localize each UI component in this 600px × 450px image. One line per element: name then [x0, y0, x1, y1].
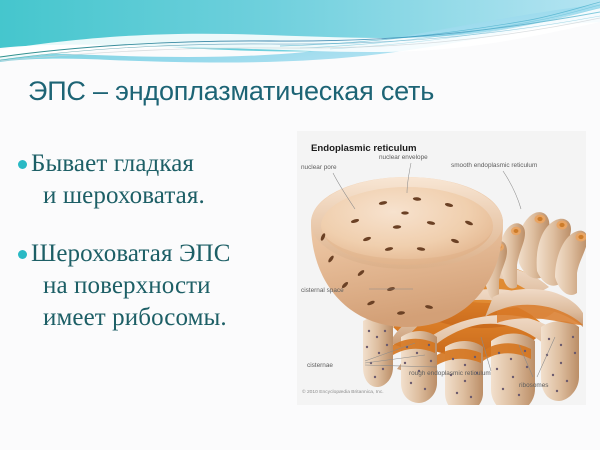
label-smooth-er: smooth endoplasmic reticulum — [451, 162, 537, 169]
label-cisternae: cisternae — [307, 362, 333, 369]
bullet-line: Бывает гладкая — [31, 148, 205, 180]
label-nuclear-envelope: nuclear envelope — [379, 154, 428, 161]
bullet-text: Шероховатая ЭПС на поверхности имеет риб… — [31, 238, 230, 334]
bullet-text: Бывает гладкая и шероховатая. — [31, 148, 205, 212]
slide: ЭПС – эндоплазматическая сеть Бывает гла… — [0, 0, 600, 450]
page-title: ЭПС – эндоплазматическая сеть — [28, 76, 548, 107]
bullet-line: на поверхности — [31, 270, 230, 302]
bullet-line: имеет рибосомы. — [31, 302, 230, 334]
header-wave-decoration — [0, 0, 600, 72]
bullet-list: Бывает гладкая и шероховатая. Шероховата… — [18, 148, 296, 360]
label-cisternal-space: cisternal space — [301, 287, 344, 294]
list-item: Бывает гладкая и шероховатая. — [18, 148, 296, 212]
figure-title: Endoplasmic reticulum — [311, 143, 417, 154]
bullet-dot-icon — [18, 250, 27, 259]
endoplasmic-reticulum-figure: Endoplasmic reticulum — [297, 131, 586, 405]
label-nuclear-pore: nuclear pore — [301, 164, 337, 171]
bullet-line: Шероховатая ЭПС — [31, 238, 230, 270]
label-rough-er: rough endoplasmic reticulum — [409, 370, 491, 377]
cisterna-lobe — [363, 317, 393, 388]
figure-credit: © 2010 Encyclopædia Britannica, Inc. — [302, 388, 384, 395]
bullet-line: и шероховатая. — [31, 180, 205, 212]
bullet-dot-icon — [18, 160, 27, 169]
label-ribosomes: ribosomes — [519, 382, 548, 389]
list-item: Шероховатая ЭПС на поверхности имеет риб… — [18, 238, 296, 334]
cisterna-lobe — [541, 321, 579, 401]
